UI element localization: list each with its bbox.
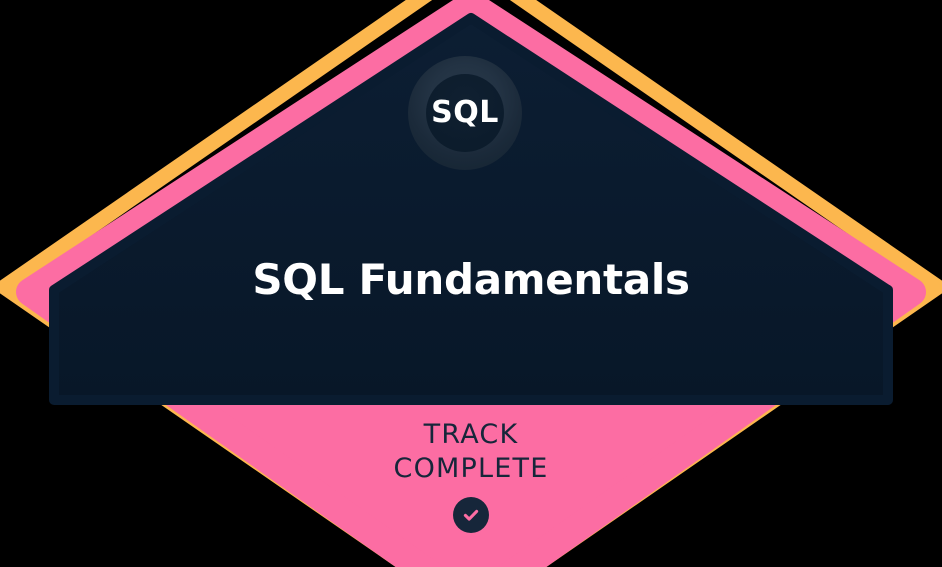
badge-shape-layers (0, 0, 942, 567)
badge-canvas: SQL SQL Fundamentals TRACK COMPLETE (0, 0, 942, 567)
inner-navy-panel (54, 18, 888, 400)
